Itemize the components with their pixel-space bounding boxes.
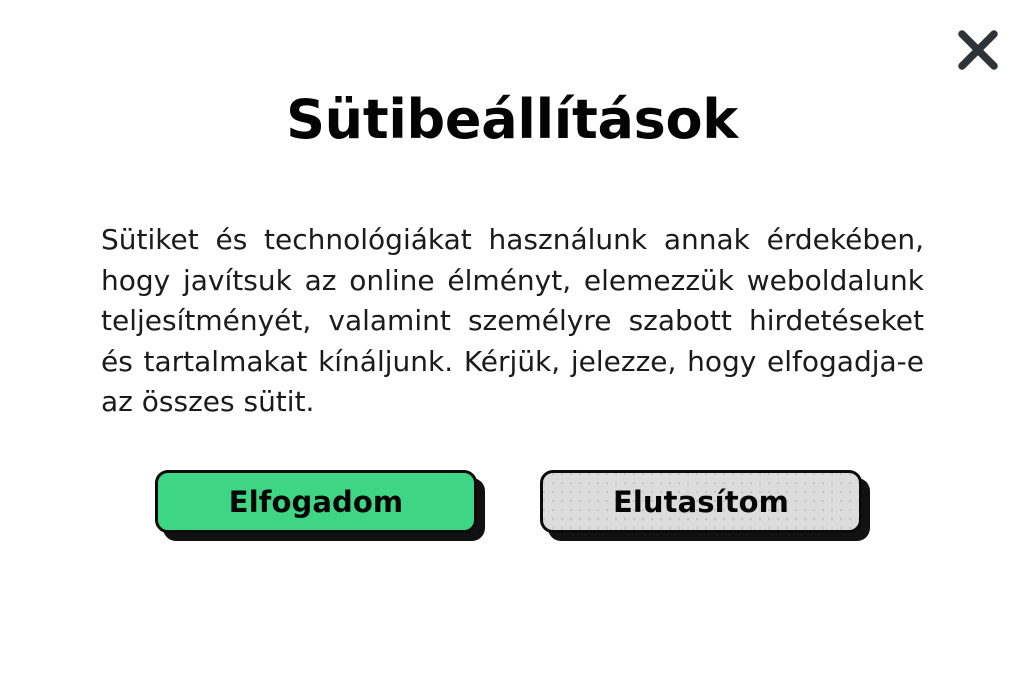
close-icon (956, 28, 1000, 72)
dialog-actions: Elfogadom Elutasítom (155, 470, 869, 542)
reject-cookies-button[interactable]: Elutasítom (540, 470, 862, 533)
dialog-description: Sütiket és technológiákat használunk ann… (101, 220, 924, 423)
close-button[interactable] (950, 22, 1006, 78)
cookie-consent-dialog: Sütibeállítások Sütiket és technológiáka… (0, 0, 1024, 683)
reject-cookies-label: Elutasítom (613, 485, 789, 519)
dialog-title: Sütibeállítások (0, 89, 1024, 151)
accept-cookies-label: Elfogadom (229, 485, 403, 519)
accept-cookies-button[interactable]: Elfogadom (155, 470, 477, 533)
